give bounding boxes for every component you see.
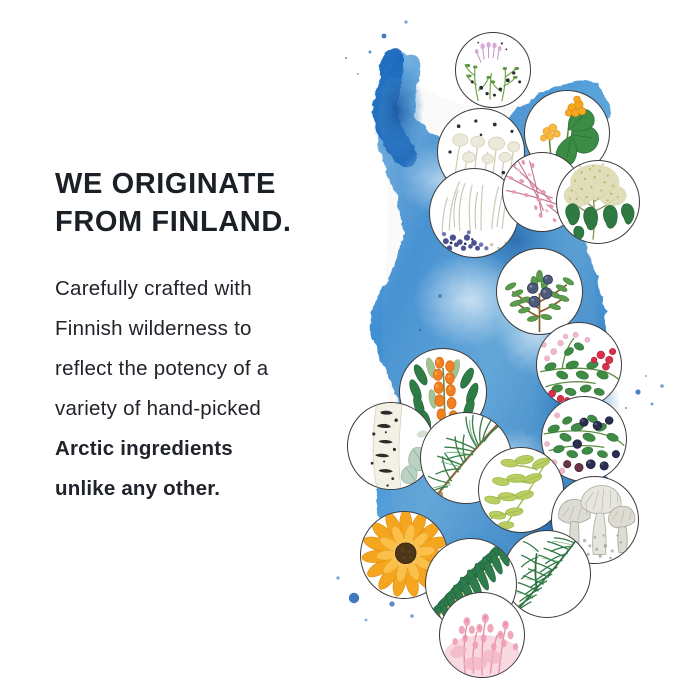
circle-meadowsweet <box>556 160 640 244</box>
body-line-2: Finnish wilderness to <box>55 309 355 349</box>
body-copy: Carefully crafted with Finnish wildernes… <box>55 269 355 509</box>
body-line-5: Arctic ingredients <box>55 429 355 469</box>
copy-block: WE ORIGINATE FROM FINLAND. Carefully cra… <box>55 166 355 509</box>
body-line-6: unlike any other. <box>55 469 355 509</box>
birch-trunk <box>373 403 403 489</box>
circle-heather <box>455 32 531 108</box>
body-line-4: variety of hand-picked <box>55 389 355 429</box>
page-title: WE ORIGINATE FROM FINLAND. <box>55 166 355 241</box>
body-line-3: reflect the potency of a <box>55 349 355 389</box>
circle-lingonberry <box>536 322 622 408</box>
poster-canvas: WE ORIGINATE FROM FINLAND. Carefully cra… <box>0 0 679 679</box>
circle-pink-bloom <box>439 592 525 678</box>
meadowsweet-illustration <box>557 161 639 243</box>
bilberry-cluster <box>438 230 488 251</box>
lingonberry-illustration <box>537 323 621 407</box>
body-line-1: Carefully crafted with <box>55 269 355 309</box>
pink-bloom-illustration <box>440 593 524 677</box>
calendula-center <box>395 543 416 564</box>
heather-illustration <box>456 33 530 107</box>
juniper-illustration <box>497 249 582 334</box>
